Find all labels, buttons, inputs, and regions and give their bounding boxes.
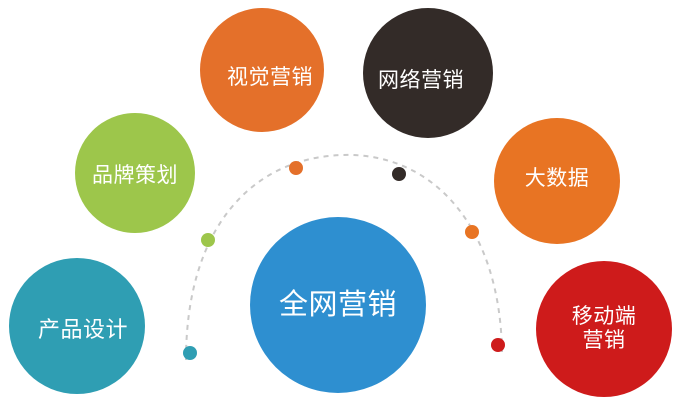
- dot-network-marketing: [392, 167, 406, 181]
- bubble-center-all-network-marketing[interactable]: 全网营销: [250, 217, 426, 393]
- bubble-network-marketing[interactable]: 网络营销: [363, 8, 493, 138]
- dot-big-data: [465, 225, 479, 239]
- bubble-big-data-label: 大数据: [525, 167, 590, 191]
- dot-product-design: [183, 346, 197, 360]
- bubble-brand-planning[interactable]: 品牌策划: [75, 113, 195, 233]
- bubble-big-data[interactable]: 大数据: [494, 118, 620, 244]
- dot-visual-marketing: [289, 161, 303, 175]
- bubble-center-all-network-marketing-label: 全网营销: [279, 289, 397, 321]
- bubble-visual-marketing[interactable]: 视觉营销: [200, 8, 324, 132]
- bubble-brand-planning-label: 品牌策划: [92, 164, 178, 188]
- bubble-mobile-marketing[interactable]: 移动端 营销: [536, 261, 672, 397]
- bubble-mobile-marketing-label: 移动端 营销: [572, 305, 637, 352]
- dot-brand-planning: [201, 233, 215, 247]
- diagram-canvas: 视觉营销网络营销大数据品牌策划产品设计移动端 营销全网营销: [0, 0, 676, 410]
- bubble-network-marketing-label: 网络营销: [378, 69, 464, 93]
- bubble-product-design-label: 产品设计: [38, 318, 128, 343]
- bubble-product-design[interactable]: 产品设计: [9, 258, 145, 394]
- bubble-visual-marketing-label: 视觉营销: [227, 66, 313, 90]
- dot-mobile-marketing: [491, 338, 505, 352]
